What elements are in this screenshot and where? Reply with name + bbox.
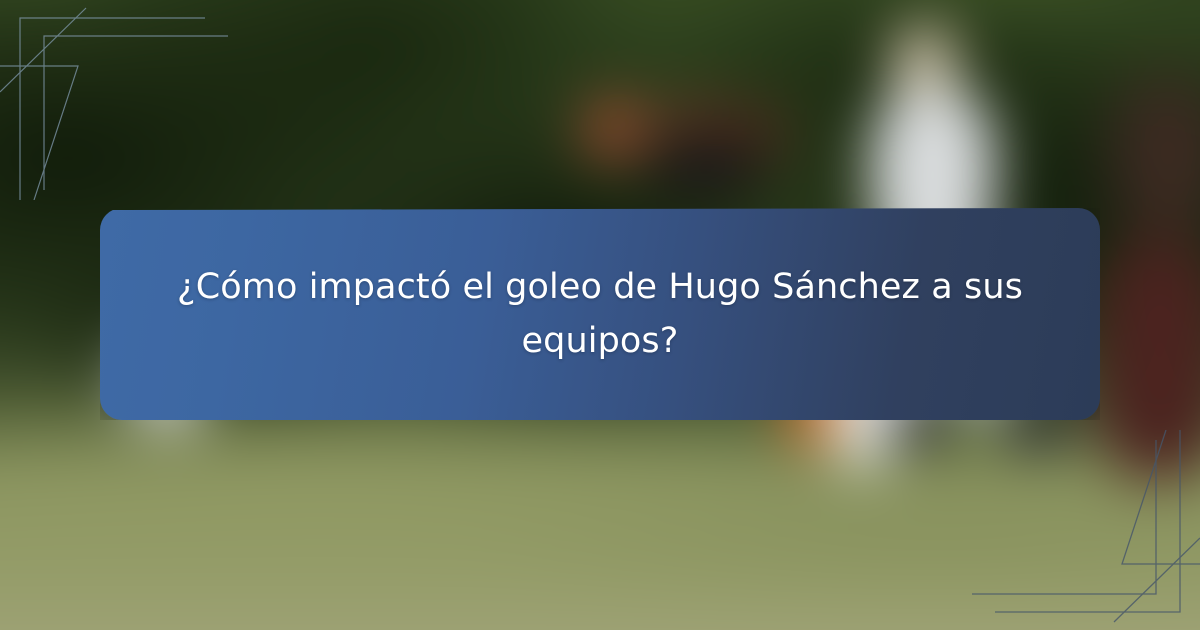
blurred-figure-1 xyxy=(579,96,653,164)
blurred-figure-right-lower xyxy=(1096,236,1200,480)
social-card-canvas: ¿Cómo impactó el goleo de Hugo Sánchez a… xyxy=(0,0,1200,630)
headline-card: ¿Cómo impactó el goleo de Hugo Sánchez a… xyxy=(100,208,1100,420)
page-title: ¿Cómo impactó el goleo de Hugo Sánchez a… xyxy=(100,260,1100,369)
blurred-figure-right-upper xyxy=(1109,77,1200,236)
blurred-figure-4 xyxy=(642,125,769,199)
